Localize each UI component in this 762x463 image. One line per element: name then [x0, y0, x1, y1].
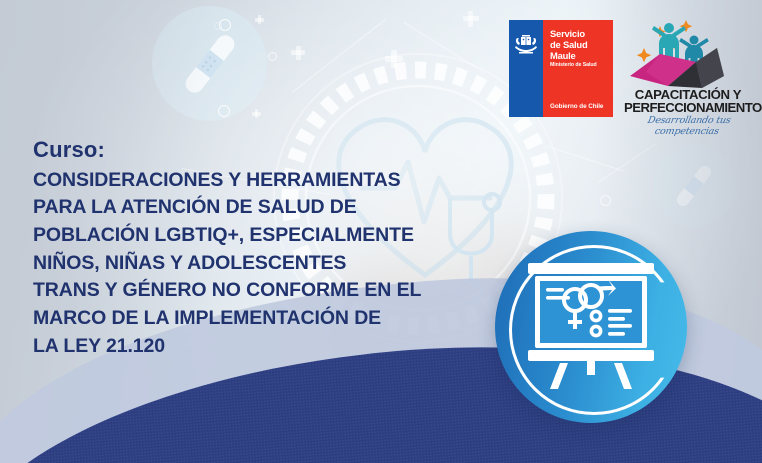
training-logo-book-figures-icon [624, 14, 752, 90]
gov-line-2: de Salud [550, 39, 587, 50]
course-title-line: TRANS Y GÉNERO NO CONFORME EN EL [33, 277, 463, 305]
course-title-line: PARA LA ATENCIÓN DE SALUD DE [33, 194, 463, 222]
training-logo-tagline: Desarrollando tus competencias [622, 115, 755, 137]
course-title-line: MARCO DE LA IMPLEMENTACIÓN DE [33, 305, 463, 333]
government-logo-blue-panel [509, 20, 543, 117]
course-title-line: LA LEY 21.120 [33, 333, 463, 361]
gov-line-1: Servicio [550, 28, 587, 39]
presentation-board-gender-icon [524, 261, 658, 393]
course-banner: Servicio de Salud Maule Ministerio de Sa… [0, 0, 762, 463]
training-logo: CAPACITACIÓN Y PERFECCIONAMIENTO Desarro… [624, 14, 752, 126]
course-badge [495, 231, 687, 423]
course-title-block: Curso: CONSIDERACIONES Y HERRAMIENTAS PA… [33, 138, 463, 360]
government-logo-title: Servicio de Salud Maule [550, 28, 587, 61]
training-logo-line-2: PERFECCIONAMIENTO [624, 101, 752, 114]
course-title-line: NIÑOS, NIÑAS Y ADOLESCENTES [33, 250, 463, 278]
course-title-line: CONSIDERACIONES Y HERRAMIENTAS [33, 167, 463, 195]
course-kicker: Curso: [33, 138, 463, 163]
government-logo: Servicio de Salud Maule Ministerio de Sa… [509, 20, 613, 117]
government-logo-ministry: Ministerio de Salud [550, 62, 597, 68]
course-title-line: POBLACIÓN LGBTIQ+, ESPECIALMENTE [33, 222, 463, 250]
course-title: CONSIDERACIONES Y HERRAMIENTAS PARA LA A… [33, 167, 463, 361]
chile-coat-of-arms-icon [513, 33, 539, 55]
government-logo-red-panel: Servicio de Salud Maule Ministerio de Sa… [543, 20, 613, 117]
government-logo-footer: Gobierno de Chile [550, 103, 603, 110]
gov-line-3: Maule [550, 50, 587, 61]
